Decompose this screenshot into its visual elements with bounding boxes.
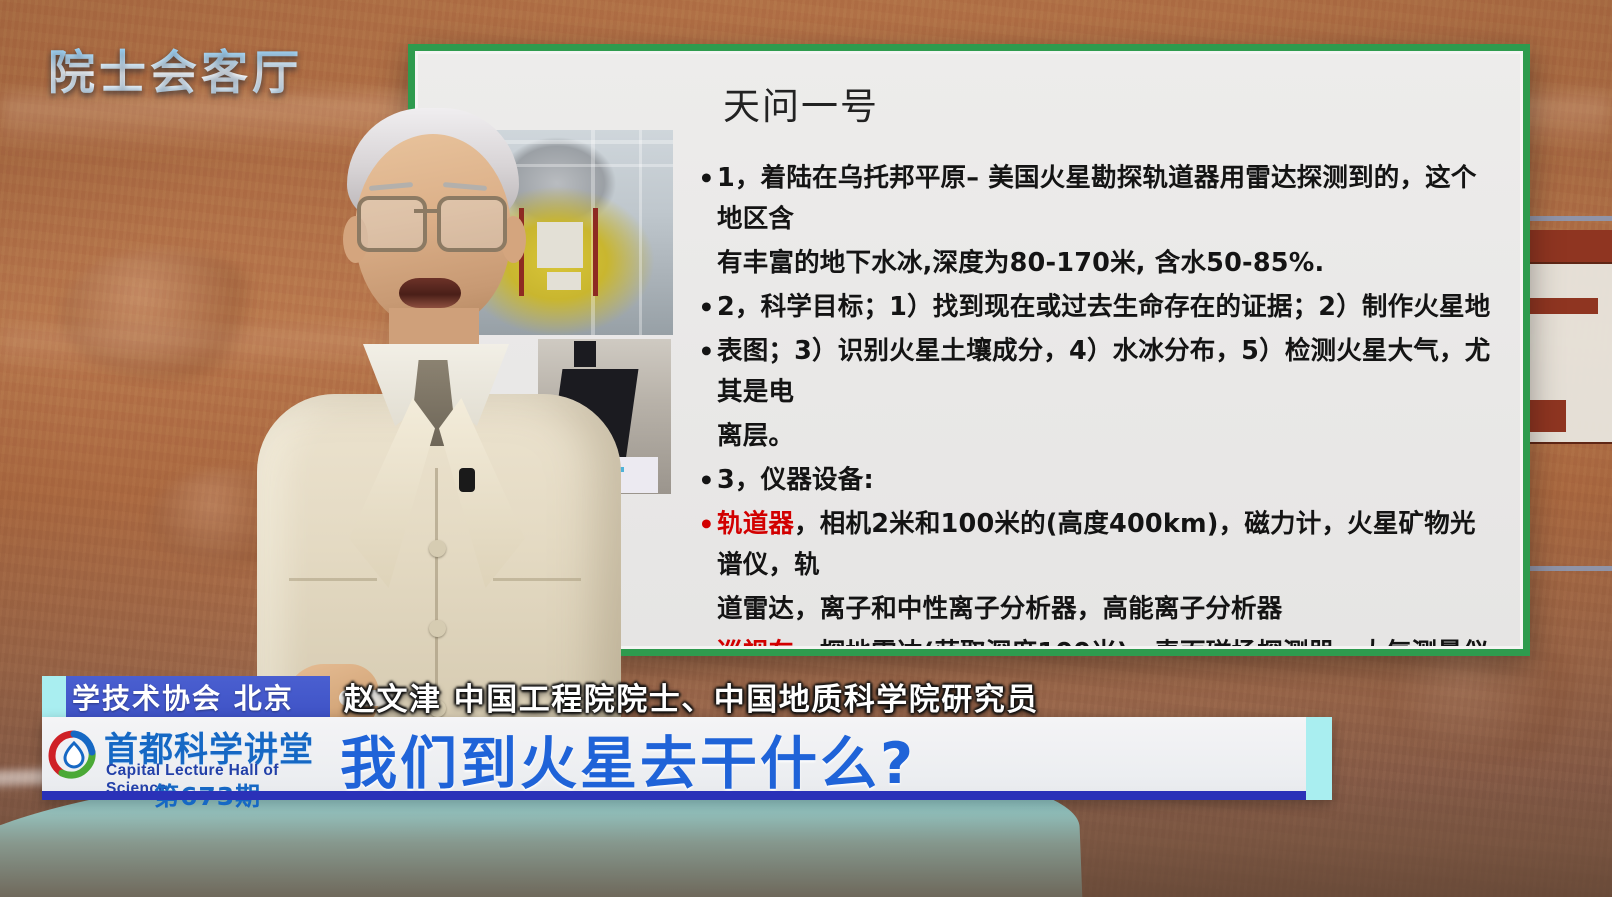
capital-lecture-hall-logo-icon xyxy=(48,729,100,781)
cyan-accent-right xyxy=(1306,717,1332,800)
bullet-highlight: 巡视车 xyxy=(717,638,794,649)
bullet-marker: • xyxy=(698,331,715,372)
bullet-text: 有丰富的地下水冰,深度为80-170米, 含水50-85%. xyxy=(717,243,1496,284)
bullet-item-orbiter: • 轨道器，相机2米和100米的(高度400km)，磁力计，火星矿物光谱仪，轨 xyxy=(698,504,1496,586)
presenter-jacket-pocket xyxy=(493,578,581,581)
bullet-rest: ，相机2米和100米的(高度400km)，磁力计，火星矿物光谱仪，轨 xyxy=(717,509,1476,580)
organizer-ticker-text: 学技术协会 北京 xyxy=(72,677,294,717)
bullet-text: 3，仪器设备: xyxy=(717,460,1496,501)
bullet-text: 道雷达，离子和中性离子分析器，高能离子分析器 xyxy=(717,589,1496,630)
bullet-text: 2，科学目标；1）找到现在或过去生命存在的证据；2）制作火星地 xyxy=(717,287,1496,328)
bullet-item-rover: • 巡视车，探地雷达(获取深度100米)，表面磁场探测器，大气测量仪器，表 xyxy=(698,633,1496,649)
slide-title: 天问一号 xyxy=(723,76,879,130)
lower-third-top-row: 学技术协会 北京 赵文津 中国工程院院士、中国地质科学院研究员 xyxy=(42,676,1332,717)
bullet-continuation: 离层。 xyxy=(717,416,1496,457)
lower-third: 学技术协会 北京 赵文津 中国工程院院士、中国地质科学院研究员 首都科学讲堂 C… xyxy=(42,676,1332,800)
bullet-marker: • xyxy=(698,158,715,199)
bullet-text: 轨道器，相机2米和100米的(高度400km)，磁力计，火星矿物光谱仪，轨 xyxy=(717,504,1496,586)
slide-bullet-list: • 1，着陆在乌托邦平原– 美国火星勘探轨道器用雷达探测到的，这个地区含 有丰富… xyxy=(698,158,1496,649)
bullet-item: • 1，着陆在乌托邦平原– 美国火星勘探轨道器用雷达探测到的，这个地区含 xyxy=(698,158,1496,240)
program-logo: 院士会客厅 xyxy=(48,34,303,103)
episode-number: 第673期 xyxy=(154,777,261,813)
presenter-jacket-button xyxy=(429,540,446,557)
episode-title: 我们到火星去干什么? xyxy=(332,718,1332,800)
eyeglasses-bridge xyxy=(414,209,440,213)
bullet-marker: • xyxy=(698,287,715,328)
presenter-mouth xyxy=(399,278,461,308)
bullet-text: 离层。 xyxy=(717,416,1496,457)
eyeglasses-right-lens xyxy=(437,196,507,252)
bullet-marker: • xyxy=(698,504,715,545)
bullet-text: 1，着陆在乌托邦平原– 美国火星勘探轨道器用雷达探测到的，这个地区含 xyxy=(717,158,1496,240)
bullet-item: • 3，仪器设备: xyxy=(698,460,1496,501)
bullet-marker: • xyxy=(698,633,715,649)
bullet-rest: ，探地雷达(获取深度100米)，表面磁场探测器，大气测量仪器，表 xyxy=(717,638,1488,649)
video-frame: 院士会客厅 天问一号 xyxy=(0,0,1612,897)
bullet-continuation: 道雷达，离子和中性离子分析器，高能离子分析器 xyxy=(717,589,1496,630)
speaker-credit: 赵文津 中国工程院院士、中国地质科学院研究员 xyxy=(330,676,1332,717)
bullet-marker: • xyxy=(698,460,715,501)
brand-block: 首都科学讲堂 Capital Lecture Hall of Science 第… xyxy=(42,717,332,800)
bullet-highlight: 轨道器 xyxy=(717,509,794,539)
bullet-text: 表图；3）识别火星土壤成分，4）水冰分布，5）检测火星大气，尤其是电 xyxy=(717,331,1496,413)
cyan-accent-left xyxy=(42,676,66,717)
bullet-item: • 表图；3）识别火星土壤成分，4）水冰分布，5）检测火星大气，尤其是电 xyxy=(698,331,1496,413)
presenter-jacket-pocket xyxy=(289,578,377,581)
bullet-item: • 2，科学目标；1）找到现在或过去生命存在的证据；2）制作火星地 xyxy=(698,287,1496,328)
organizer-ticker: 学技术协会 北京 xyxy=(66,676,330,717)
bullet-text: 巡视车，探地雷达(获取深度100米)，表面磁场探测器，大气测量仪器，表 xyxy=(717,633,1496,649)
eyeglasses-left-lens xyxy=(357,196,427,252)
lapel-microphone xyxy=(459,468,475,492)
bullet-continuation: 有丰富的地下水冰,深度为80-170米, 含水50-85%. xyxy=(717,243,1496,284)
lower-third-title-row: 首都科学讲堂 Capital Lecture Hall of Science 第… xyxy=(42,717,1332,800)
presenter-jacket-button xyxy=(429,620,446,637)
